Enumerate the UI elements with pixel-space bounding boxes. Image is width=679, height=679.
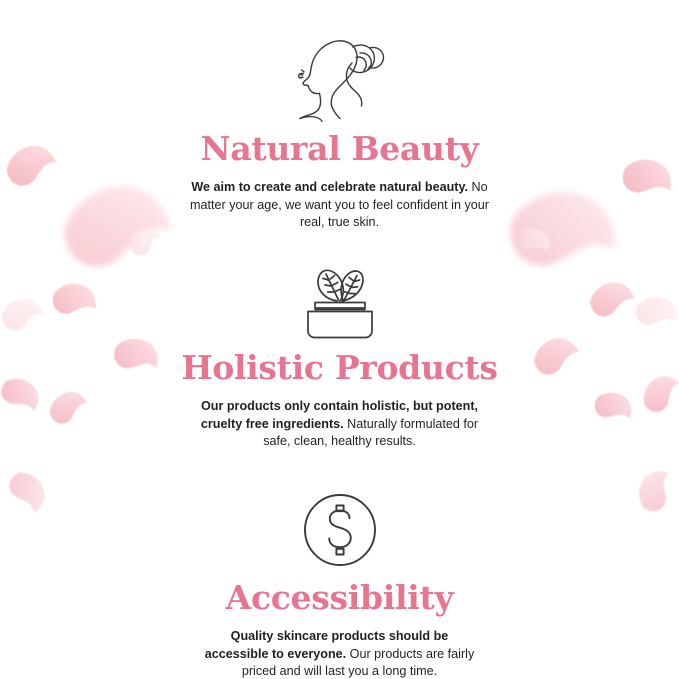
skincare-values-panel: Natural Beauty We aim to create and cele…	[0, 0, 679, 679]
woman-face-profile-icon	[290, 30, 390, 122]
feature-description: Our products only contain holistic, but …	[195, 398, 485, 451]
feature-title: Natural Beauty	[200, 132, 478, 165]
feature-natural-beauty: Natural Beauty We aim to create and cele…	[0, 30, 679, 244]
feature-accessibility: Accessibility Quality skincare products …	[0, 491, 679, 679]
feature-description-bold: We aim to create and celebrate natural b…	[191, 180, 468, 194]
feature-title: Accessibility	[226, 581, 454, 614]
feature-holistic-products: Holistic Products Our products only cont…	[0, 269, 679, 463]
dollar-coin-icon	[301, 491, 379, 569]
feature-description: Quality skincare products should be acce…	[200, 628, 480, 679]
feature-title: Holistic Products	[181, 351, 497, 384]
cream-jar-with-leaves-icon	[297, 269, 383, 339]
feature-description: We aim to create and celebrate natural b…	[190, 179, 490, 232]
features-list: Natural Beauty We aim to create and cele…	[0, 0, 679, 679]
